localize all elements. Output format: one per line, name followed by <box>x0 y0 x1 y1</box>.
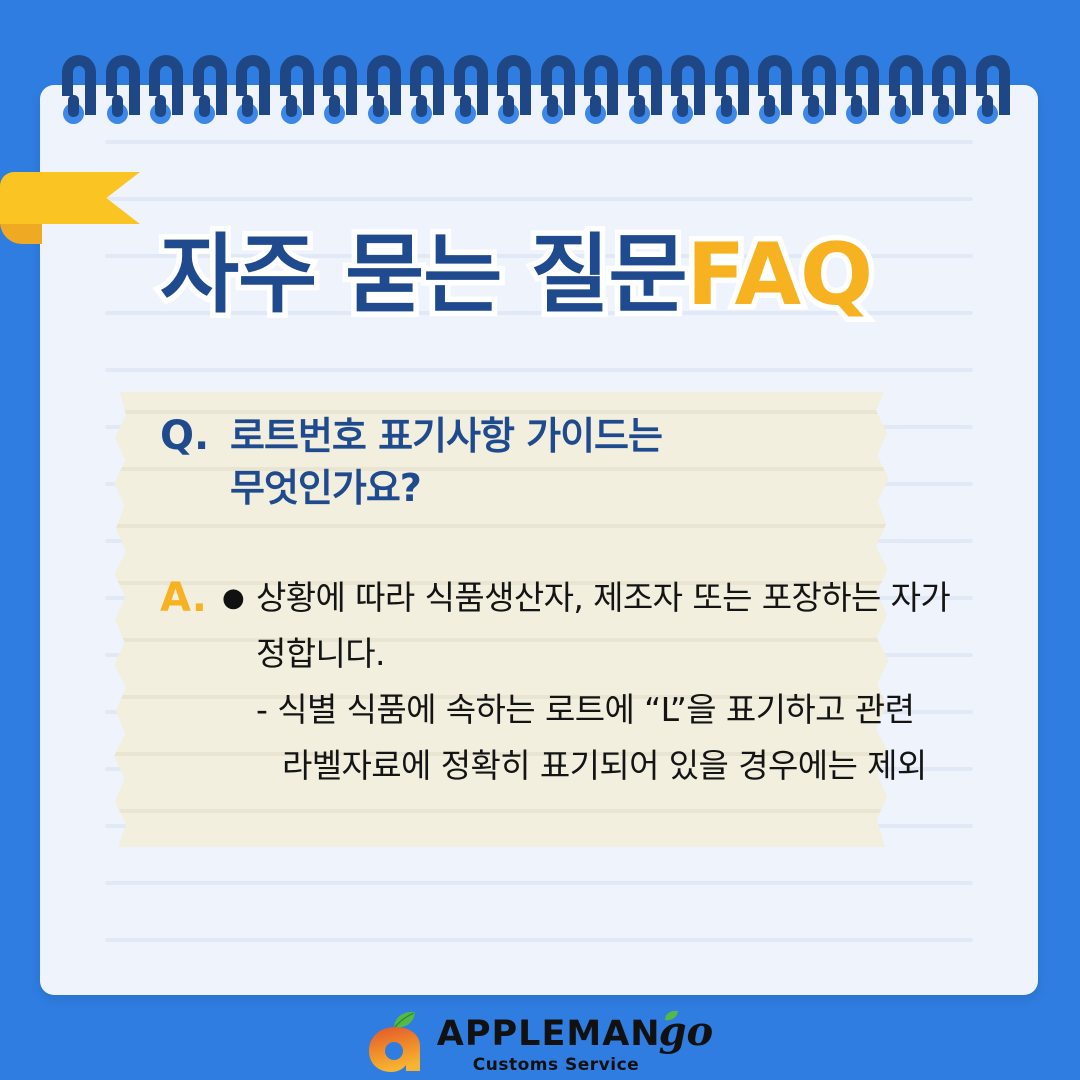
spiral-ring-stem <box>460 95 471 117</box>
faq-question: Q. 로트번호 표기사항 가이드는 무엇인가요? <box>160 410 1020 514</box>
question-line-2: 무엇인가요? <box>230 462 662 514</box>
spiral-ring-stem <box>721 95 732 117</box>
spiral-ring <box>149 55 183 129</box>
rule-line <box>105 881 973 885</box>
appleman-fruit-icon <box>367 1012 425 1074</box>
page-title-english: FAQ <box>687 225 873 325</box>
spiral-ring <box>454 55 488 129</box>
brand-tagline: Customs Service <box>473 1057 639 1074</box>
brand-logo: APPLEMAN go Customs Service <box>367 1012 713 1074</box>
bullet-point-icon: ● <box>222 570 256 626</box>
spiral-ring-stem <box>373 95 384 117</box>
spiral-ring-stem <box>982 95 993 117</box>
spiral-ring <box>323 55 357 129</box>
answer-bullet-line-1: 상황에 따라 식품생산자, 제조자 또는 포장하는 자가 <box>256 570 1020 626</box>
faq-answer: A. ● 상황에 따라 식품생산자, 제조자 또는 포장하는 자가 정합니다. … <box>160 570 1020 794</box>
spiral-ring-stem <box>155 95 166 117</box>
spiral-ring <box>976 55 1010 129</box>
page-title-korean: 자주 묻는 질문 <box>160 225 687 325</box>
answer-sub-line-1: - 식별 식품에 속하는 로트에 “L”을 표기하고 관련 <box>256 682 1020 738</box>
rule-line <box>105 140 973 144</box>
spiral-binding <box>40 55 1038 140</box>
question-text: 로트번호 표기사항 가이드는 무엇인가요? <box>230 410 662 514</box>
leaf-icon <box>391 1011 417 1029</box>
spiral-ring <box>715 55 749 129</box>
faq-content: Q. 로트번호 표기사항 가이드는 무엇인가요? A. ● 상황에 따라 식품생… <box>160 410 1020 794</box>
rule-line <box>105 368 973 372</box>
spiral-ring <box>497 55 531 129</box>
spiral-ring <box>932 55 966 129</box>
spiral-ring-stem <box>590 95 601 117</box>
brand-name-script: go <box>659 1012 714 1052</box>
rule-line <box>105 938 973 942</box>
spiral-ring-stem <box>329 95 340 117</box>
spiral-ring-stem <box>808 95 819 117</box>
spiral-ring-stem <box>416 95 427 117</box>
spiral-ring-stem <box>547 95 558 117</box>
spiral-ring <box>845 55 879 129</box>
spiral-ring <box>541 55 575 129</box>
answer-sub-line-2: 라벨자료에 정확히 표기되어 있을 경우에는 제외 <box>256 738 1020 794</box>
spiral-ring <box>671 55 705 129</box>
faq-card: 자주 묻는 질문FAQ Q. 로트번호 표기사항 가이드는 무엇인가요? A. … <box>0 0 1080 1080</box>
spiral-ring-stem <box>286 95 297 117</box>
rule-line-cream <box>112 809 890 813</box>
spiral-ring <box>889 55 923 129</box>
ribbon-bookmark-icon <box>0 172 140 234</box>
spiral-ring-stem <box>938 95 949 117</box>
spiral-ring-stem <box>634 95 645 117</box>
apple-a-mark-icon <box>367 1024 423 1074</box>
page-title: 자주 묻는 질문FAQ <box>160 232 872 318</box>
spiral-ring <box>367 55 401 129</box>
spiral-ring-stem <box>242 95 253 117</box>
question-marker: Q. <box>160 410 230 462</box>
spiral-ring <box>280 55 314 129</box>
leaf-small-icon <box>663 1010 679 1021</box>
answer-bullet-item: ● 상황에 따라 식품생산자, 제조자 또는 포장하는 자가 정합니다. <box>222 570 1020 682</box>
spiral-ring-stem <box>764 95 775 117</box>
spiral-ring-stem <box>895 95 906 117</box>
answer-bullet-line-2: 정합니다. <box>256 626 1020 682</box>
spiral-ring <box>62 55 96 129</box>
spiral-ring-stem <box>503 95 514 117</box>
spiral-ring <box>410 55 444 129</box>
spiral-ring-stem <box>851 95 862 117</box>
question-line-1: 로트번호 표기사항 가이드는 <box>230 410 662 462</box>
spiral-ring <box>802 55 836 129</box>
answer-text: ● 상황에 따라 식품생산자, 제조자 또는 포장하는 자가 정합니다. - 식… <box>222 570 1020 794</box>
spiral-ring-stem <box>199 95 210 117</box>
spiral-ring-stem <box>112 95 123 117</box>
footer: APPLEMAN go Customs Service <box>0 1006 1080 1080</box>
answer-bullet-text: 상황에 따라 식품생산자, 제조자 또는 포장하는 자가 정합니다. <box>256 570 1020 682</box>
ribbon-band <box>0 172 140 224</box>
brand-wordmark: APPLEMAN go Customs Service <box>437 1012 713 1074</box>
answer-marker: A. <box>160 570 222 626</box>
spiral-ring-stem <box>677 95 688 117</box>
spiral-ring <box>628 55 662 129</box>
spiral-ring <box>758 55 792 129</box>
spiral-ring <box>106 55 140 129</box>
spiral-ring <box>193 55 227 129</box>
brand-name: APPLEMAN <box>437 1017 661 1052</box>
brand-wordmark-top: APPLEMAN go <box>437 1012 713 1052</box>
spiral-ring-stem <box>68 95 79 117</box>
spiral-ring <box>236 55 270 129</box>
spiral-ring <box>584 55 618 129</box>
rule-line <box>105 197 973 201</box>
